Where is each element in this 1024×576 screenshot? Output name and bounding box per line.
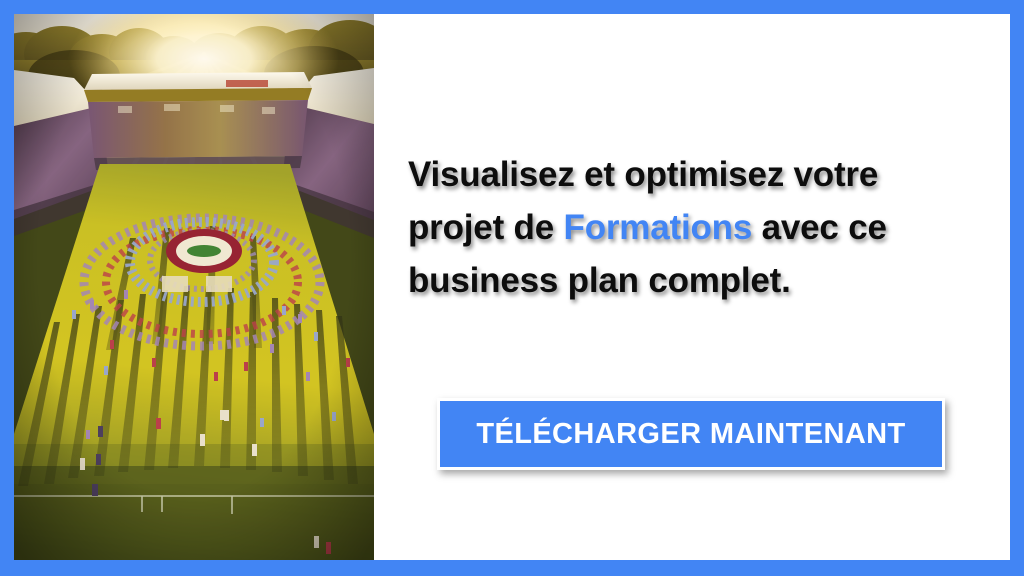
stadium-photo [14, 14, 374, 560]
download-now-button[interactable]: TÉLÉCHARGER MAINTENANT [437, 398, 945, 470]
headline: Visualisez et optimisez votre projet de … [408, 148, 938, 307]
cta-container: TÉLÉCHARGER MAINTENANT [437, 398, 945, 470]
content-panel: Visualisez et optimisez votre projet de … [374, 14, 1010, 560]
stadium-illustration [14, 14, 374, 560]
headline-accent: Formations [564, 208, 753, 247]
promo-banner: Visualisez et optimisez votre projet de … [0, 0, 1024, 576]
banner-inner: Visualisez et optimisez votre projet de … [14, 14, 1010, 560]
